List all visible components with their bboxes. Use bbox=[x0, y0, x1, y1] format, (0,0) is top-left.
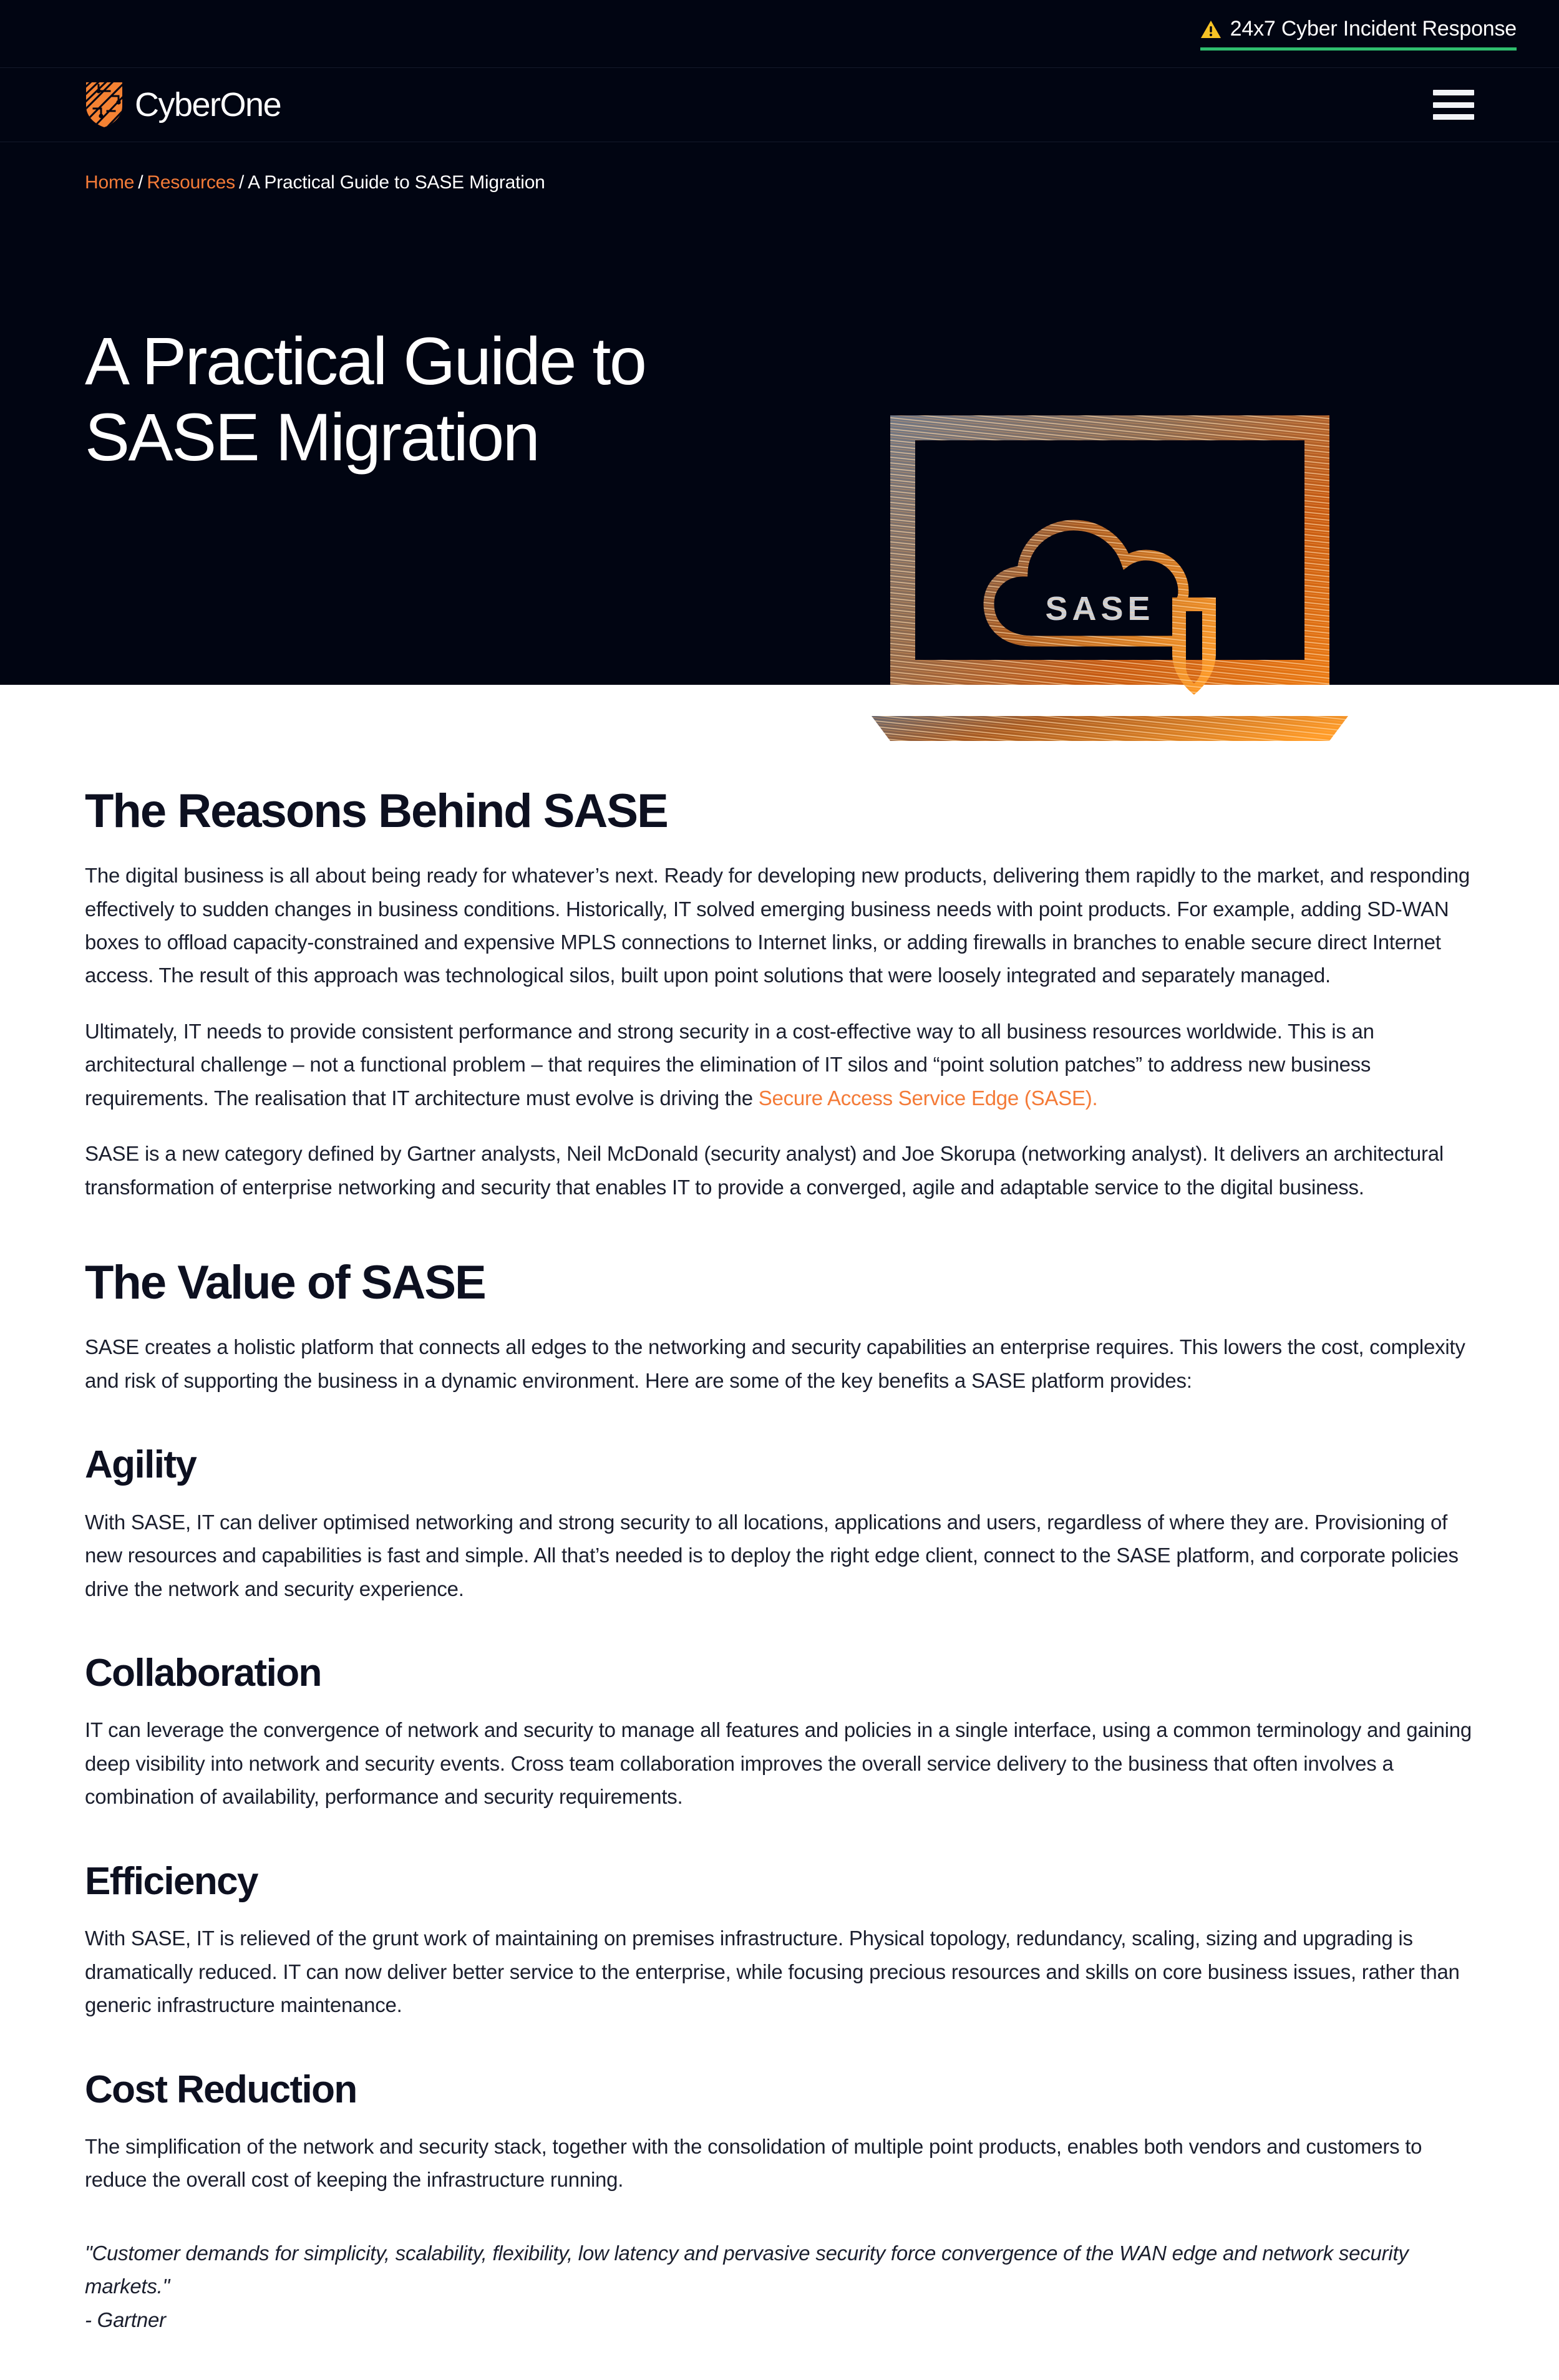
gartner-quote: "Customer demands for simplicity, scalab… bbox=[85, 2237, 1474, 2336]
article-content: The Reasons Behind SASE The digital busi… bbox=[85, 785, 1474, 2336]
breadcrumb-separator-2: / bbox=[235, 172, 248, 193]
gartner-quote-attribution: - Gartner bbox=[85, 2303, 1474, 2336]
brand-logo-link[interactable]: CyberOne bbox=[85, 81, 281, 128]
hamburger-menu-icon[interactable] bbox=[1433, 90, 1474, 120]
breadcrumb: Home/Resources/A Practical Guide to SASE… bbox=[85, 142, 1474, 193]
article-body: The Reasons Behind SASE The digital busi… bbox=[0, 685, 1559, 2380]
paragraph-architectural-challenge: Ultimately, IT needs to provide consiste… bbox=[85, 1015, 1474, 1115]
gartner-quote-text: "Customer demands for simplicity, scalab… bbox=[85, 2242, 1409, 2298]
paragraph-agility: With SASE, IT can deliver optimised netw… bbox=[85, 1506, 1474, 1605]
heading-agility: Agility bbox=[85, 1443, 1474, 1486]
paragraph-gartner-definition: SASE is a new category defined by Gartne… bbox=[85, 1137, 1474, 1204]
hamburger-bar-3 bbox=[1433, 114, 1474, 120]
page-title: A Practical Guide to SASE Migration bbox=[85, 323, 802, 475]
heading-reasons-behind-sase: The Reasons Behind SASE bbox=[85, 785, 1474, 838]
cyberone-shield-icon bbox=[85, 81, 124, 128]
breadcrumb-home-link[interactable]: Home bbox=[85, 172, 134, 193]
paragraph-collaboration: IT can leverage the convergence of netwo… bbox=[85, 1713, 1474, 1813]
incident-response-link[interactable]: 24x7 Cyber Incident Response bbox=[1200, 17, 1517, 51]
sase-definition-link[interactable]: Secure Access Service Edge (SASE). bbox=[759, 1086, 1098, 1110]
breadcrumb-current-page: A Practical Guide to SASE Migration bbox=[248, 172, 545, 193]
paragraph-digital-business: The digital business is all about being … bbox=[85, 859, 1474, 992]
laptop-cloud-shield-illustration: SASE bbox=[867, 392, 1353, 766]
paragraph-architectural-challenge-text: Ultimately, IT needs to provide consiste… bbox=[85, 1020, 1374, 1110]
top-utility-bar: 24x7 Cyber Incident Response bbox=[0, 0, 1559, 67]
incident-response-label: 24x7 Cyber Incident Response bbox=[1230, 17, 1517, 41]
warning-triangle-icon bbox=[1200, 19, 1221, 39]
paragraph-holistic-platform: SASE creates a holistic platform that co… bbox=[85, 1330, 1474, 1397]
heading-efficiency: Efficiency bbox=[85, 1860, 1474, 1903]
heading-cost-reduction: Cost Reduction bbox=[85, 2068, 1474, 2111]
paragraph-efficiency: With SASE, IT is relieved of the grunt w… bbox=[85, 1922, 1474, 2021]
site-header: CyberOne bbox=[0, 67, 1559, 142]
breadcrumb-resources-link[interactable]: Resources bbox=[147, 172, 235, 193]
brand-name: CyberOne bbox=[135, 88, 281, 122]
paragraph-cost-reduction: The simplification of the network and se… bbox=[85, 2130, 1474, 2197]
heading-value-of-sase: The Value of SASE bbox=[85, 1256, 1474, 1309]
breadcrumb-separator-1: / bbox=[134, 172, 147, 193]
hero-section: Home/Resources/A Practical Guide to SASE… bbox=[0, 142, 1559, 685]
hamburger-bar-1 bbox=[1433, 90, 1474, 95]
heading-collaboration: Collaboration bbox=[85, 1652, 1474, 1695]
hamburger-bar-2 bbox=[1433, 102, 1474, 108]
